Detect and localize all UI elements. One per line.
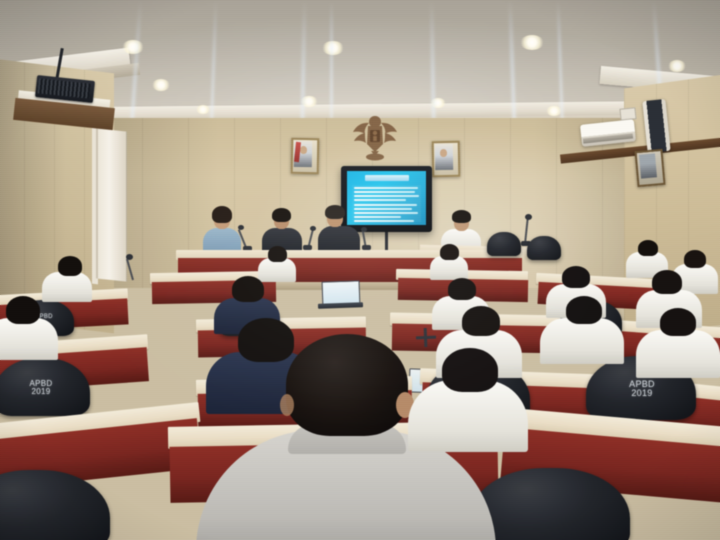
- laptop-base: [318, 302, 363, 309]
- ceiling-downlight: [668, 60, 686, 72]
- attendee-torso: [636, 330, 720, 378]
- attendee-hair: [6, 296, 40, 324]
- attendee-torso: [540, 318, 624, 364]
- attendee-hair: [638, 240, 658, 256]
- panelist-hair: [452, 210, 471, 223]
- microphone-head: [126, 254, 133, 260]
- attendee-hair: [232, 276, 264, 302]
- slide-text-line: [354, 204, 417, 206]
- slide-text-line: [354, 208, 412, 210]
- attendee-hair: [462, 306, 500, 336]
- attendee-hair: [660, 308, 696, 336]
- attendee-hair: [442, 348, 498, 392]
- wall-portrait-vice-president-image: [435, 144, 453, 170]
- attendee-hair: [448, 278, 476, 300]
- slide-text-line: [354, 216, 401, 218]
- garuda-pancasila-emblem: [352, 110, 398, 162]
- slide-title-bar: [365, 175, 409, 181]
- left-door[interactable]: [96, 128, 127, 281]
- wall-portrait-vice-president-head: [440, 149, 447, 157]
- speaker-hair: [325, 205, 345, 219]
- chair[interactable]: [487, 232, 521, 256]
- attendee-torso: [0, 318, 58, 360]
- slide-text-line: [354, 220, 414, 222]
- chair[interactable]: [0, 470, 110, 540]
- slide-body: [352, 185, 421, 222]
- ceiling-downlight: [122, 40, 144, 54]
- attendee-hair: [268, 246, 287, 262]
- wall-portrait-president-head: [300, 146, 307, 154]
- chair-label: APBD 2019: [16, 380, 66, 397]
- projector-screen-surface: [347, 171, 426, 225]
- attendee-hair: [652, 270, 682, 294]
- foreground-attendee-hair: [286, 334, 408, 436]
- microphone-head: [525, 214, 532, 220]
- ceiling-downlight: [196, 105, 210, 114]
- attendee-hair: [562, 266, 590, 288]
- chair-label-line2: 2019: [614, 389, 670, 398]
- chair-label: APBD 2019: [614, 380, 670, 399]
- microphone-head: [361, 227, 367, 232]
- attendee-hair: [58, 256, 82, 276]
- attendee-hair: [566, 296, 602, 324]
- panelist-hair: [212, 206, 232, 223]
- panelist-hair: [272, 208, 291, 222]
- wall-portrait-right-image: [639, 153, 657, 178]
- ceiling-downlight: [520, 35, 544, 50]
- slide-text-line: [354, 199, 406, 201]
- foreground-attendee-ear: [280, 394, 294, 416]
- slide-text-line: [354, 195, 419, 197]
- chair[interactable]: [527, 236, 561, 260]
- attendee-torso: [42, 272, 92, 302]
- desk-microphone-connector: [424, 328, 428, 347]
- slide-text-line: [354, 191, 415, 193]
- microphone-head: [238, 225, 244, 230]
- ceiling-downlight: [152, 79, 170, 91]
- ceiling-downlight: [322, 41, 344, 55]
- slide-text-line: [354, 187, 418, 189]
- attendee-hair: [238, 318, 294, 362]
- microphone-head: [310, 226, 316, 231]
- attendee-hair: [684, 250, 706, 268]
- meeting-room-photo: APBD APBD 2019 APBD 2019 APBD: [0, 0, 720, 540]
- attendee-hair: [440, 244, 459, 260]
- chair-label-line2: 2019: [16, 388, 66, 396]
- slide-text-line: [354, 212, 418, 214]
